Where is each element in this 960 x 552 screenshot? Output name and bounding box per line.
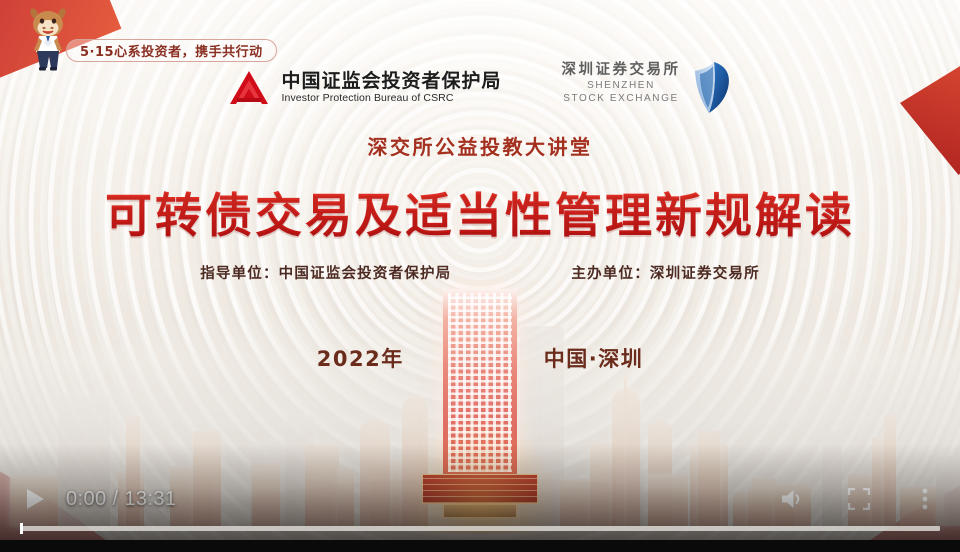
central-tower-windows (448, 293, 512, 472)
szse-logo-en-line2: STOCK EXCHANGE (562, 93, 681, 104)
central-tower-base (422, 474, 538, 504)
video-player[interactable]: 5·15心系投资者，携手共行动 中国证监会投资者保护局 Investor Pro… (0, 0, 960, 552)
play-button[interactable] (18, 482, 52, 516)
slide-location: 中国·深圳 (544, 343, 643, 373)
szse-logo-cn-text: 深圳证券交易所 (562, 62, 681, 78)
szse-logo: 深圳证券交易所 SHENZHEN STOCK EXCHANGE (562, 60, 733, 116)
fullscreen-icon (848, 488, 870, 510)
slide-main-title: 可转债交易及适当性管理新规解读 (0, 177, 960, 246)
csrc-logo-cn-text: 中国证监会投资者保护局 (281, 72, 501, 92)
slide-meta-row: 2022年 中国·深圳 (0, 343, 960, 373)
slide-year: 2022年 (317, 343, 404, 373)
more-options-button[interactable] (908, 482, 942, 516)
slide-kicker: 深交所公益投教大讲堂 (0, 131, 960, 160)
csrc-triangle-logo-icon (227, 68, 271, 108)
progress-bar[interactable] (0, 521, 960, 535)
campaign-badge: 5·15心系投资者，携手共行动 (66, 39, 277, 62)
logo-row: 中国证监会投资者保护局 Investor Protection Bureau o… (0, 60, 960, 116)
central-tower (443, 289, 517, 518)
central-tower-body (443, 289, 517, 474)
more-vertical-icon (922, 487, 928, 511)
volume-button[interactable] (776, 482, 810, 516)
player-controls-left: 0:00 / 13:31 (0, 482, 176, 516)
video-frame: 5·15心系投资者，携手共行动 中国证监会投资者保护局 Investor Pro… (0, 0, 960, 540)
csrc-logo-en-text: Investor Protection Bureau of CSRC (281, 93, 501, 104)
player-bottom-bar (0, 540, 960, 552)
szse-shield-logo-icon (687, 60, 733, 116)
time-display: 0:00 / 13:31 (66, 488, 176, 511)
play-icon (24, 487, 46, 511)
fullscreen-button[interactable] (842, 482, 876, 516)
campaign-badge-text: 5·15心系投资者，携手共行动 (80, 41, 263, 60)
player-controls-right (776, 482, 960, 516)
volume-icon (780, 487, 806, 511)
csrc-logo: 中国证监会投资者保护局 Investor Protection Bureau o… (227, 68, 501, 108)
progress-track[interactable] (20, 526, 940, 531)
central-tower-plinth (443, 504, 517, 518)
progress-handle[interactable] (20, 523, 23, 534)
szse-logo-en-line1: SHENZHEN (562, 80, 681, 91)
